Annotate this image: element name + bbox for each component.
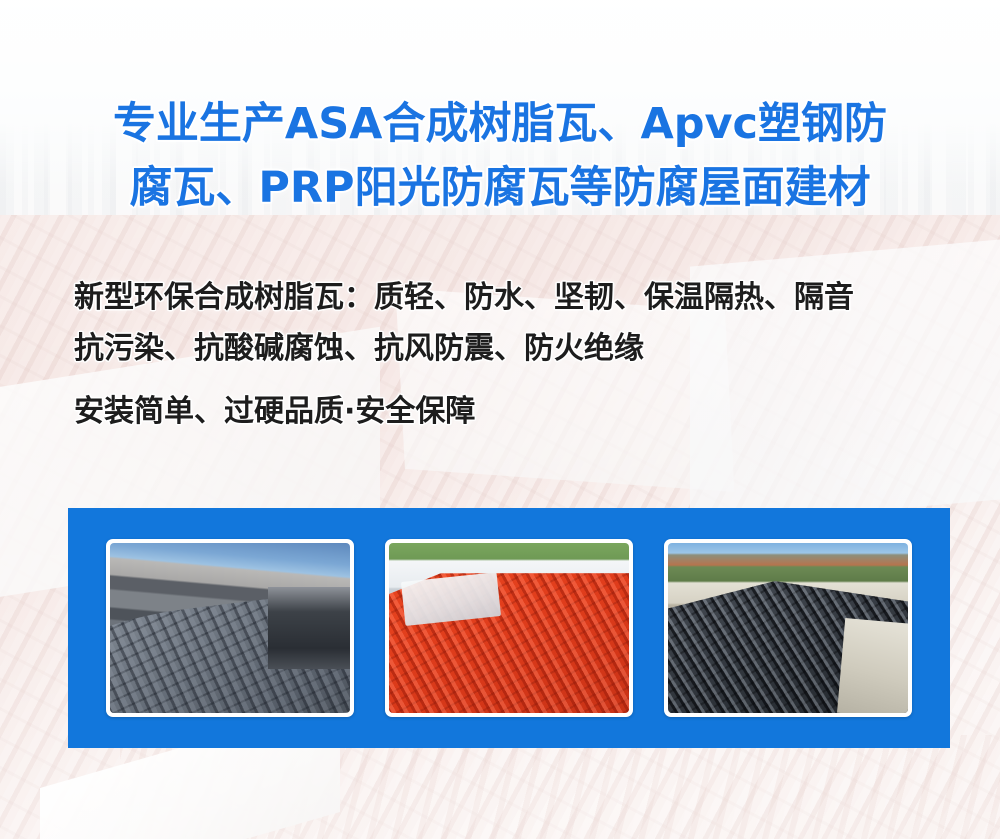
headline: 专业生产ASA合成树脂瓦、Apvc塑钢防 腐瓦、PRP阳光防腐瓦等防腐屋面建材	[0, 92, 1000, 220]
black-resin-tile-roof-image	[668, 543, 908, 713]
headline-line-2: 腐瓦、PRP阳光防腐瓦等防腐屋面建材	[0, 156, 1000, 220]
headline-line-1: 专业生产ASA合成树脂瓦、Apvc塑钢防	[0, 92, 1000, 156]
product-banner: 专业生产ASA合成树脂瓦、Apvc塑钢防 腐瓦、PRP阳光防腐瓦等防腐屋面建材 …	[0, 0, 1000, 839]
grey-resin-tile-roof-image	[110, 543, 350, 713]
photo-frame-2	[385, 539, 633, 717]
feature-line-1: 新型环保合成树脂瓦：质轻、防水、坚韧、保温隔热、隔音	[74, 272, 954, 323]
photo-gallery-panel	[68, 508, 950, 748]
feature-list: 新型环保合成树脂瓦：质轻、防水、坚韧、保温隔热、隔音 抗污染、抗酸碱腐蚀、抗风防…	[74, 272, 954, 437]
photo-frame-3	[664, 539, 912, 717]
feature-line-3: 安装简单、过硬品质·安全保障	[74, 386, 954, 437]
photo-frame-1	[106, 539, 354, 717]
feature-line-2: 抗污染、抗酸碱腐蚀、抗风防震、防火绝缘	[74, 323, 954, 374]
red-resin-tile-roof-image	[389, 543, 629, 713]
